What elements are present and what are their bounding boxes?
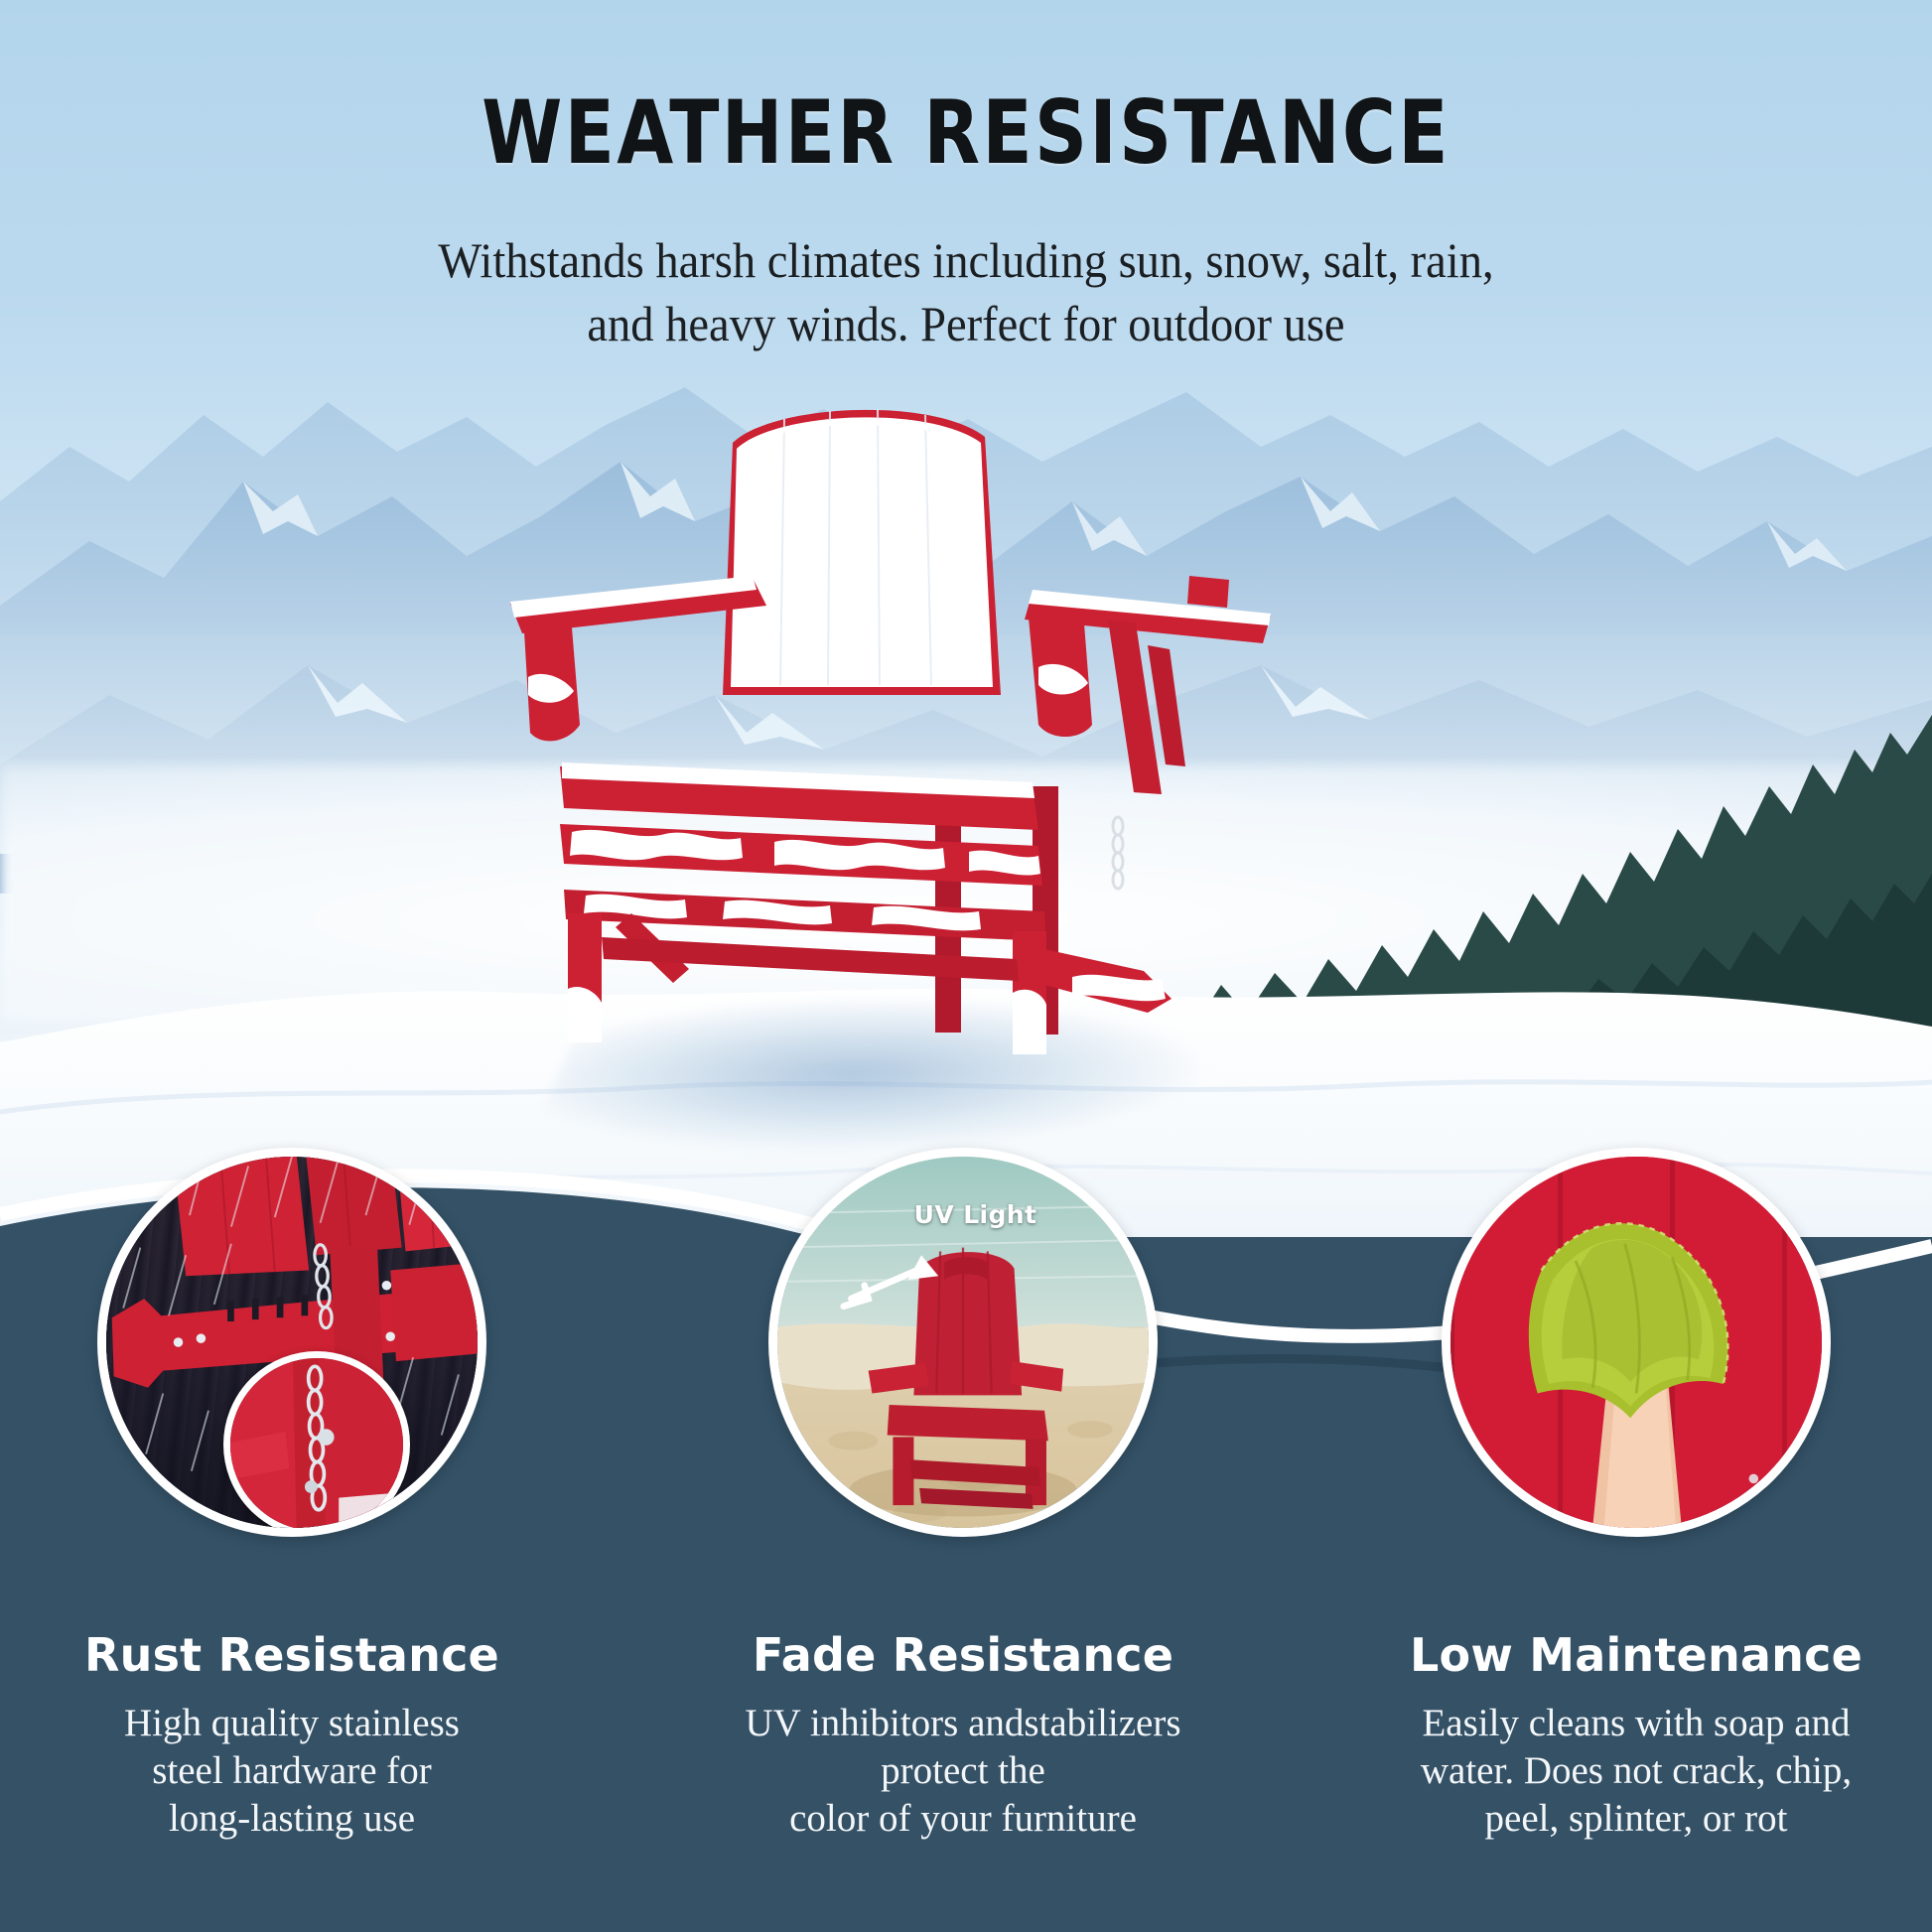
feature-title-fade-resistance: Fade Resistance bbox=[685, 1628, 1241, 1682]
hero-adirondack-chair-image bbox=[477, 397, 1469, 1072]
page-title: WEATHER RESISTANCE bbox=[68, 81, 1864, 184]
feature-image-low-maintenance bbox=[1442, 1148, 1831, 1537]
infographic-canvas: WEATHER RESISTANCE Withstands harsh clim… bbox=[0, 0, 1932, 1932]
feature-description-low-maintenance: Easily cleans with soap and water. Does … bbox=[1358, 1700, 1914, 1843]
page-subtitle: Withstands harsh climates including sun,… bbox=[68, 228, 1864, 355]
feature-image-fade-resistance: UV Light bbox=[768, 1148, 1158, 1537]
feature-image-rust-resistance bbox=[97, 1148, 486, 1537]
feature-desc-line: UV inhibitors andstabilizers protect the… bbox=[745, 1702, 1180, 1840]
hand-with-cloth-graphic bbox=[1450, 1157, 1822, 1528]
subtitle-line-2: and heavy winds. Perfect for outdoor use bbox=[68, 292, 1864, 355]
feature-description-fade-resistance: UV inhibitors andstabilizers protect the… bbox=[685, 1700, 1241, 1843]
feature-desc-line: Easily cleans with soap and water. Does … bbox=[1421, 1702, 1852, 1840]
uv-light-callout-label: UV Light bbox=[869, 1200, 1082, 1229]
feature-title-rust-resistance: Rust Resistance bbox=[14, 1628, 570, 1682]
feature-text-low-maintenance: Low Maintenance Easily cleans with soap … bbox=[1358, 1628, 1914, 1843]
feature-desc-line: High quality stainless steel hardware fo… bbox=[124, 1702, 460, 1840]
hardware-zoom-inset bbox=[223, 1351, 410, 1537]
feature-title-low-maintenance: Low Maintenance bbox=[1358, 1628, 1914, 1682]
feature-description-rust-resistance: High quality stainless steel hardware fo… bbox=[14, 1700, 570, 1843]
chain-closeup-graphic bbox=[230, 1358, 403, 1531]
feature-text-rust-resistance: Rust Resistance High quality stainless s… bbox=[14, 1628, 570, 1843]
subtitle-line-1: Withstands harsh climates including sun,… bbox=[68, 228, 1864, 292]
feature-text-fade-resistance: Fade Resistance UV inhibitors andstabili… bbox=[685, 1628, 1241, 1843]
